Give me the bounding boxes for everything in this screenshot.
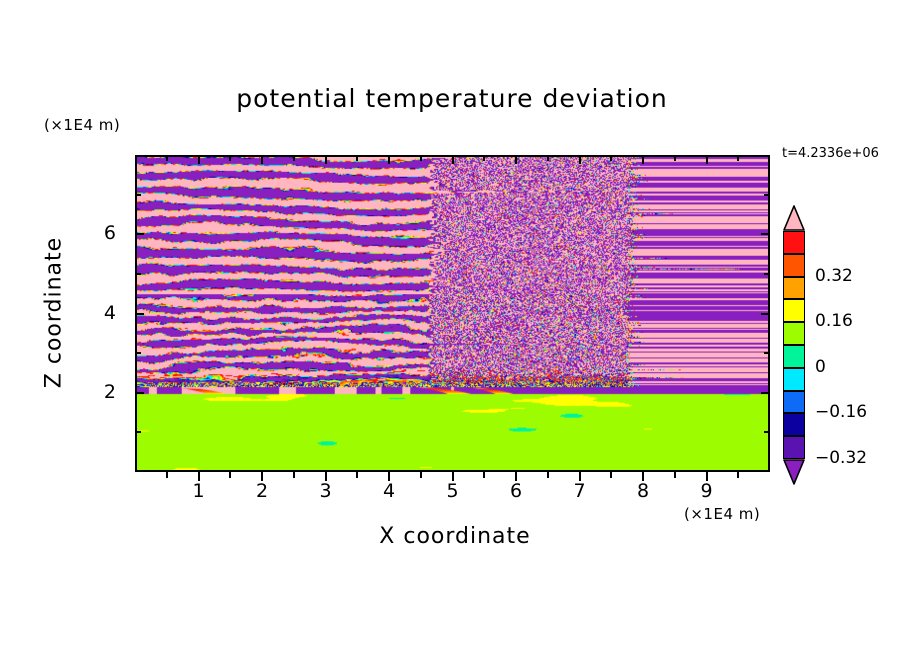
colorbar-band — [783, 436, 805, 459]
x-tick-top-minor — [674, 155, 676, 161]
x-tick-minor — [293, 472, 295, 478]
x-tick-top-minor — [356, 155, 358, 161]
colorbar-tick-label: 0 — [815, 357, 826, 377]
colorbar-over-cap — [783, 205, 805, 231]
x-tick-minor — [483, 472, 485, 478]
x-tick-label: 8 — [623, 480, 663, 502]
x-tick-label: 6 — [496, 480, 536, 502]
y-axis-title: Z coordinate — [42, 233, 67, 393]
x-tick-top — [198, 155, 200, 164]
x-tick-minor — [166, 472, 168, 478]
x-tick-label: 2 — [242, 480, 282, 502]
y-tick-minor — [135, 431, 141, 433]
colorbar-band — [783, 368, 805, 391]
x-tick-minor — [547, 472, 549, 478]
x-tick-top — [261, 155, 263, 164]
colorbar-tick-label: −0.32 — [815, 448, 867, 468]
x-tick-minor — [610, 472, 612, 478]
timestamp-annotation: t=4.2336e+06 — [782, 146, 879, 161]
y-axis-unit-label: (×1E4 m) — [44, 116, 120, 134]
x-tick-minor — [674, 472, 676, 478]
x-tick-minor — [356, 472, 358, 478]
y-tick-label: 6 — [92, 222, 116, 244]
x-tick-label: 4 — [369, 480, 409, 502]
x-tick-top — [642, 155, 644, 164]
colorbar — [783, 205, 805, 485]
x-tick-top-minor — [293, 155, 295, 161]
colorbar-band — [783, 322, 805, 345]
colorbar-band — [783, 254, 805, 277]
x-tick-top — [515, 155, 517, 164]
y-tick-right — [761, 392, 770, 394]
x-tick-label: 5 — [433, 480, 473, 502]
x-tick-minor — [229, 472, 231, 478]
y-tick-right-minor — [764, 431, 770, 433]
x-tick-top-minor — [166, 155, 168, 161]
x-tick-top — [388, 155, 390, 164]
colorbar-band — [783, 299, 805, 322]
y-tick-right-minor — [764, 194, 770, 196]
y-tick-right-minor — [764, 352, 770, 354]
x-tick-top-minor — [229, 155, 231, 161]
y-tick-major — [135, 233, 144, 235]
page-title: potential temperature deviation — [0, 84, 904, 113]
y-tick-right-minor — [764, 273, 770, 275]
y-tick-right — [761, 233, 770, 235]
x-tick-top-minor — [610, 155, 612, 161]
x-tick-top-minor — [737, 155, 739, 161]
x-tick-label: 3 — [306, 480, 346, 502]
x-tick-minor — [420, 472, 422, 478]
colorbar-band — [783, 231, 805, 254]
x-tick-top — [325, 155, 327, 164]
colorbar-tick-label: 0.16 — [815, 311, 853, 331]
y-tick-minor — [135, 194, 141, 196]
x-tick-minor — [737, 472, 739, 478]
x-tick-label: 1 — [179, 480, 219, 502]
colorbar-tick-label: 0.32 — [815, 266, 853, 286]
colorbar-band — [783, 413, 805, 436]
contour-plot-area — [135, 155, 770, 472]
colorbar-tick-label: −0.16 — [815, 402, 867, 422]
contour-field — [137, 157, 768, 470]
colorbar-band — [783, 345, 805, 368]
x-tick-top-minor — [547, 155, 549, 161]
colorbar-band — [783, 391, 805, 414]
colorbar-under-cap — [783, 459, 805, 485]
x-tick-top — [579, 155, 581, 164]
x-axis-unit-label: (×1E4 m) — [684, 505, 760, 523]
x-tick-label: 7 — [560, 480, 600, 502]
y-tick-minor — [135, 273, 141, 275]
x-tick-top-minor — [483, 155, 485, 161]
y-tick-major — [135, 392, 144, 394]
y-tick-minor — [135, 352, 141, 354]
y-tick-label: 4 — [92, 302, 116, 324]
x-tick-top — [706, 155, 708, 164]
x-tick-top-minor — [420, 155, 422, 161]
y-tick-right — [761, 313, 770, 315]
y-tick-major — [135, 313, 144, 315]
x-tick-top — [452, 155, 454, 164]
y-tick-label: 2 — [92, 381, 116, 403]
x-axis-title: X coordinate — [255, 524, 655, 549]
colorbar-band — [783, 277, 805, 300]
x-tick-label: 9 — [687, 480, 727, 502]
